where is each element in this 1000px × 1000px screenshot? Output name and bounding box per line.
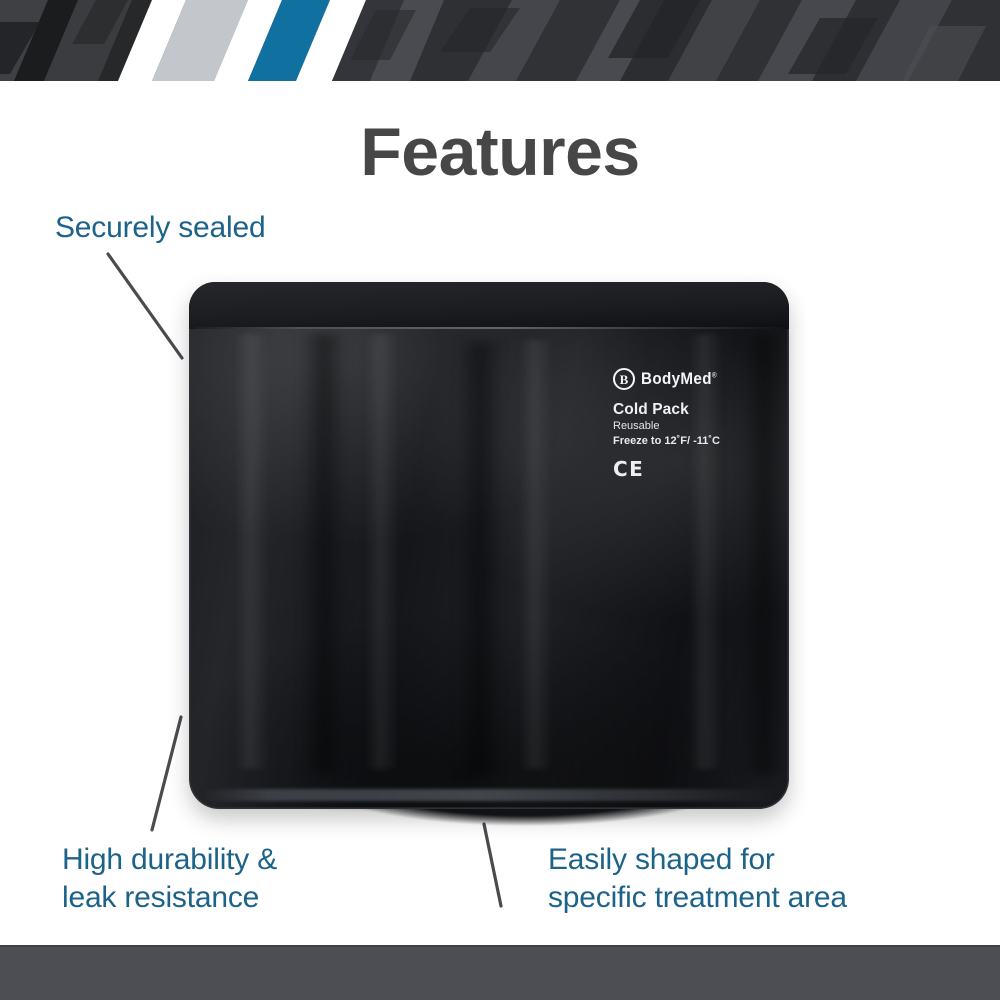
infographic-canvas: Features B Bo [0, 0, 1000, 1000]
callout-securely-sealed: Securely sealed [55, 209, 265, 247]
product-name: Cold Pack [613, 401, 775, 418]
product-cold-pack: B BodyMed® Cold Pack Reusable Freeze to … [189, 282, 789, 809]
bodymed-b-circle-logo-icon: B [613, 368, 635, 390]
leader-line-securely-sealed [108, 254, 182, 358]
vinyl-highlight-crease [235, 334, 269, 769]
pack-body: B BodyMed® Cold Pack Reusable Freeze to … [189, 282, 789, 809]
brand-mark-letter: B [620, 373, 629, 386]
pack-bottom-edge-highlight [201, 789, 777, 801]
vinyl-shadow-crease [457, 342, 503, 775]
leader-line-high-durability [152, 717, 181, 830]
registered-trademark-icon: ® [712, 372, 717, 379]
footer-bar [0, 945, 1000, 1000]
brand-name: BodyMed® [641, 371, 717, 388]
ce-certification-mark-icon: CE [613, 459, 775, 479]
callout-easily-shaped-treatment-area: Easily shaped for specific treatment are… [548, 841, 847, 916]
brand-lockup: B BodyMed® [613, 368, 775, 390]
callout-high-durability-leak-resistance: High durability & leak resistance [62, 841, 277, 916]
product-freeze-instruction: Freeze to 12˚F/ -11˚C [613, 434, 775, 448]
vinyl-highlight-crease [519, 340, 553, 769]
product-label: B BodyMed® Cold Pack Reusable Freeze to … [613, 368, 775, 479]
pack-top-seal-seam [189, 282, 789, 329]
product-attribute-reusable: Reusable [613, 420, 775, 434]
vinyl-highlight-crease [365, 334, 399, 769]
vinyl-shadow-crease [301, 334, 347, 775]
leader-line-easily-shaped [484, 824, 501, 906]
